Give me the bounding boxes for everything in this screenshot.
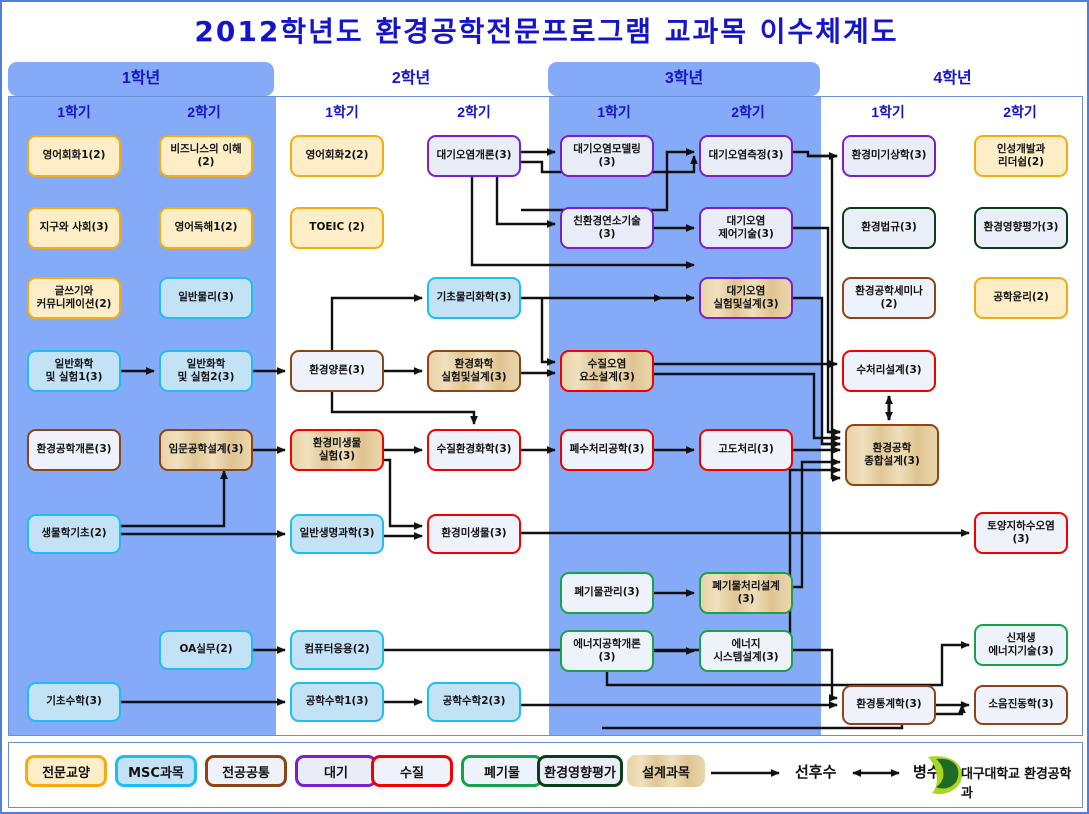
course-box-c37[interactable]: 폐기물처리설계 (3) [699, 572, 793, 614]
semester-header-8: 2학기 [958, 100, 1082, 124]
course-box-c01[interactable]: 영어회화1(2) [27, 135, 121, 177]
course-box-c44[interactable]: 환경통계학(3) [842, 685, 936, 725]
course-box-c39[interactable]: 환경미기상학(3) [842, 135, 936, 177]
curriculum-flowchart-page: 2012학년도 환경공학전문프로그램 교과목 이수체계도 1학년2학년3학년4학… [0, 0, 1089, 814]
course-box-c42[interactable]: 수처리설계(3) [842, 350, 936, 392]
course-box-c09[interactable]: 영어독해1(2) [159, 207, 253, 249]
course-box-c30[interactable]: 폐수처리공학(3) [560, 429, 654, 471]
course-box-c05[interactable]: 환경공학개론(3) [27, 429, 121, 471]
course-box-c25[interactable]: 환경미생물(3) [427, 514, 521, 554]
legend-item-4[interactable]: 대기 [295, 755, 377, 787]
course-box-c21[interactable]: 대기오염개론(3) [427, 135, 521, 177]
legend-item-3[interactable]: 전공공통 [205, 755, 287, 787]
course-box-c27[interactable]: 대기오염모델링 (3) [560, 135, 654, 177]
course-box-c03[interactable]: 글쓰기와 커뮤니케이션(2) [27, 277, 121, 319]
course-box-c48[interactable]: 토양지하수오염 (3) [974, 512, 1068, 554]
course-box-c36[interactable]: 고도처리(3) [699, 429, 793, 471]
course-box-c18[interactable]: 일반생명과학(3) [290, 514, 384, 554]
course-box-c33[interactable]: 대기오염측정(3) [699, 135, 793, 177]
semester-header-5: 1학기 [552, 100, 676, 124]
course-box-c45[interactable]: 인성개발과 리더쉽(2) [974, 135, 1068, 177]
course-box-c10[interactable]: 일반물리(3) [159, 277, 253, 319]
course-box-c12[interactable]: 임문공학설계(3) [159, 429, 253, 471]
course-box-c16[interactable]: 환경양론(3) [290, 350, 384, 392]
prereq-label: 선후수 [795, 761, 836, 782]
semester-header-6: 2학기 [686, 100, 810, 124]
course-box-c15[interactable]: TOEIC (2) [290, 207, 384, 249]
legend-item-6[interactable]: 폐기물 [461, 755, 543, 787]
course-box-c40[interactable]: 환경법규(3) [842, 207, 936, 249]
course-box-c31[interactable]: 폐기물관리(3) [560, 572, 654, 614]
legend: 전문교양MSC과목전공공통대기수질폐기물환경영향평가설계과목 선후수 병수 대구… [8, 742, 1083, 808]
course-box-c49[interactable]: 신재생 에너지기술(3) [974, 624, 1068, 666]
semester-header-7: 1학기 [826, 100, 950, 124]
course-box-c08[interactable]: 비즈니스의 이해 (2) [159, 135, 253, 177]
legend-item-7[interactable]: 환경영향평가 [537, 755, 623, 787]
page-title: 2012학년도 환경공학전문프로그램 교과목 이수체계도 [2, 10, 1089, 50]
course-box-c22[interactable]: 기초물리화학(3) [427, 277, 521, 319]
coreq-arrow-icon [845, 765, 907, 781]
legend-item-1[interactable]: 전문교양 [25, 755, 107, 787]
legend-item-8[interactable]: 설계과목 [627, 755, 705, 787]
course-box-c20[interactable]: 공학수학1(3) [290, 682, 384, 722]
course-box-c19[interactable]: 컴퓨터응용(2) [290, 630, 384, 670]
year-header-2: 2학년 [277, 62, 545, 96]
course-box-c14[interactable]: 영어회화2(2) [290, 135, 384, 177]
semester-header-4: 2학기 [412, 100, 536, 124]
course-box-c11[interactable]: 일반화학 및 실험2(3) [159, 350, 253, 392]
course-box-c07[interactable]: 기초수학(3) [27, 682, 121, 722]
course-box-c04[interactable]: 일반화학 및 실험1(3) [27, 350, 121, 392]
course-box-c17[interactable]: 환경미생물 실험(3) [290, 429, 384, 471]
course-box-c28[interactable]: 친환경연소기술 (3) [560, 207, 654, 249]
semester-header-3: 1학기 [280, 100, 404, 124]
course-box-c46[interactable]: 환경영향평가(3) [974, 207, 1068, 249]
year-header-3: 3학년 [548, 62, 820, 96]
course-box-c47[interactable]: 공학윤리(2) [974, 277, 1068, 319]
course-box-c35[interactable]: 대기오염 실험및설계(3) [699, 277, 793, 319]
course-box-c13[interactable]: OA실무(2) [159, 630, 253, 670]
course-box-c41[interactable]: 환경공학세미나 (2) [842, 277, 936, 319]
course-box-c50[interactable]: 소음진동학(3) [974, 685, 1068, 725]
semester-header-2: 2학기 [142, 100, 266, 124]
course-box-c24[interactable]: 수질환경화학(3) [427, 429, 521, 471]
course-box-c26[interactable]: 공학수학2(3) [427, 682, 521, 722]
organization-name: 대구대학교 환경공학과 [961, 763, 1082, 801]
course-box-c38[interactable]: 에너지 시스템설계(3) [699, 630, 793, 672]
course-box-c34[interactable]: 대기오염 제어기술(3) [699, 207, 793, 249]
year-header-4: 4학년 [822, 62, 1083, 96]
year-header-1: 1학년 [8, 62, 274, 96]
course-box-c06[interactable]: 생물학기초(2) [27, 514, 121, 554]
semester-header-1: 1학기 [12, 100, 136, 124]
course-box-c32[interactable]: 에너지공학개론 (3) [560, 630, 654, 672]
legend-item-2[interactable]: MSC과목 [115, 755, 197, 787]
course-box-c23[interactable]: 환경화학 실험및설계(3) [427, 350, 521, 392]
course-box-c43[interactable]: 환경공학 종합설계(3) [845, 424, 939, 486]
course-box-c02[interactable]: 지구와 사회(3) [27, 207, 121, 249]
course-box-c29[interactable]: 수질오염 요소설계(3) [560, 350, 654, 392]
legend-item-5[interactable]: 수질 [371, 755, 453, 787]
prereq-arrow-icon [709, 765, 787, 781]
